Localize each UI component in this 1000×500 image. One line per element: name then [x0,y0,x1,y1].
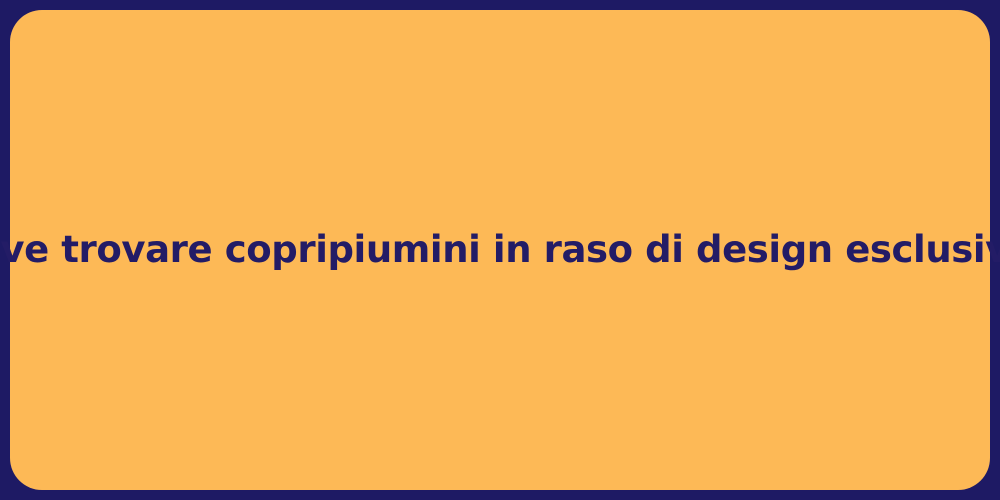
page-title: Dove trovare copripiumini in raso di des… [0,227,1000,273]
outer-frame: Dove trovare copripiumini in raso di des… [0,0,1000,500]
headline-card: Dove trovare copripiumini in raso di des… [10,10,990,490]
